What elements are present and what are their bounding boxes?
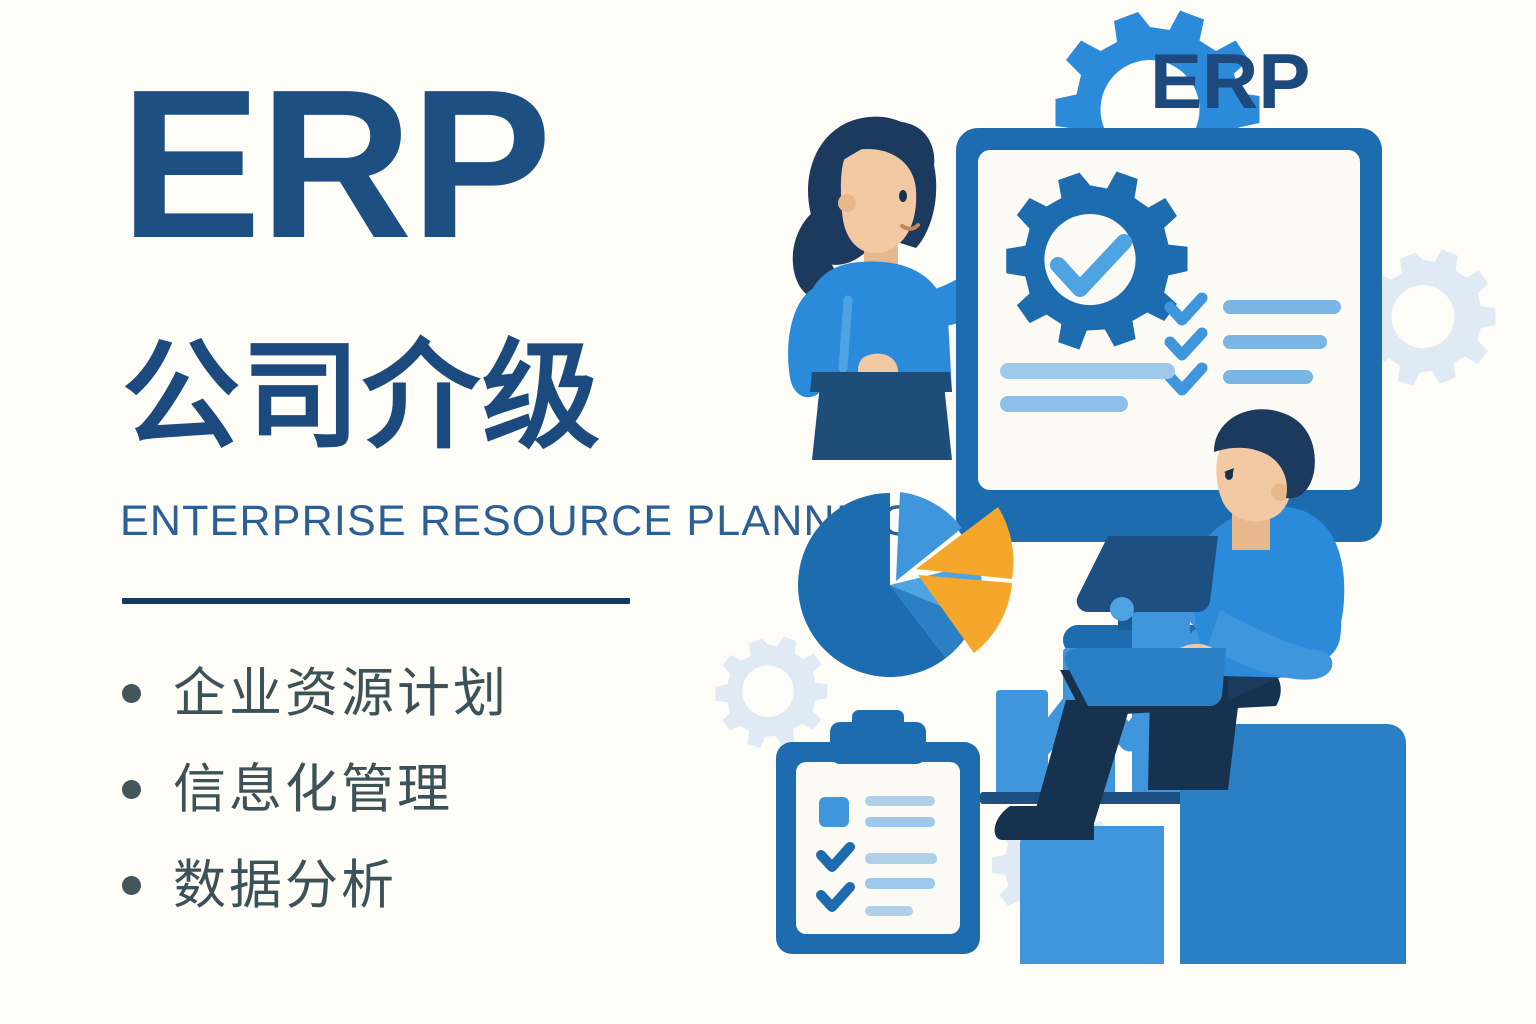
text-panel: ERP 公司介级 ENTERPRISE RESOURCE PLANNING 企业… — [0, 0, 760, 1024]
bullet-list: 企业资源计划 信息化管理 数据分析 — [122, 645, 682, 933]
pie-chart-icon — [798, 492, 1013, 677]
svg-text:ERP: ERP — [1150, 37, 1310, 125]
list-item-label: 企业资源计划 — [173, 667, 509, 720]
subtitle-chinese: 公司介级 — [122, 336, 602, 460]
list-item: 企业资源计划 — [122, 645, 682, 741]
bullet-dot-icon — [122, 684, 141, 703]
illustration: ERP — [680, 0, 1536, 1024]
list-item: 信息化管理 — [122, 741, 682, 837]
list-item-label: 信息化管理 — [173, 763, 453, 816]
clipboard-checklist-icon — [776, 710, 980, 954]
screen-erp-text: ERP — [1150, 37, 1310, 125]
list-item-label: 数据分析 — [173, 859, 397, 912]
bullet-dot-icon — [122, 876, 141, 895]
list-item: 数据分析 — [122, 837, 682, 933]
divider — [122, 598, 630, 604]
page-title: ERP — [120, 58, 550, 270]
bullet-dot-icon — [122, 780, 141, 799]
erp-poster: ERP 公司介级 ENTERPRISE RESOURCE PLANNING 企业… — [0, 0, 1536, 1024]
